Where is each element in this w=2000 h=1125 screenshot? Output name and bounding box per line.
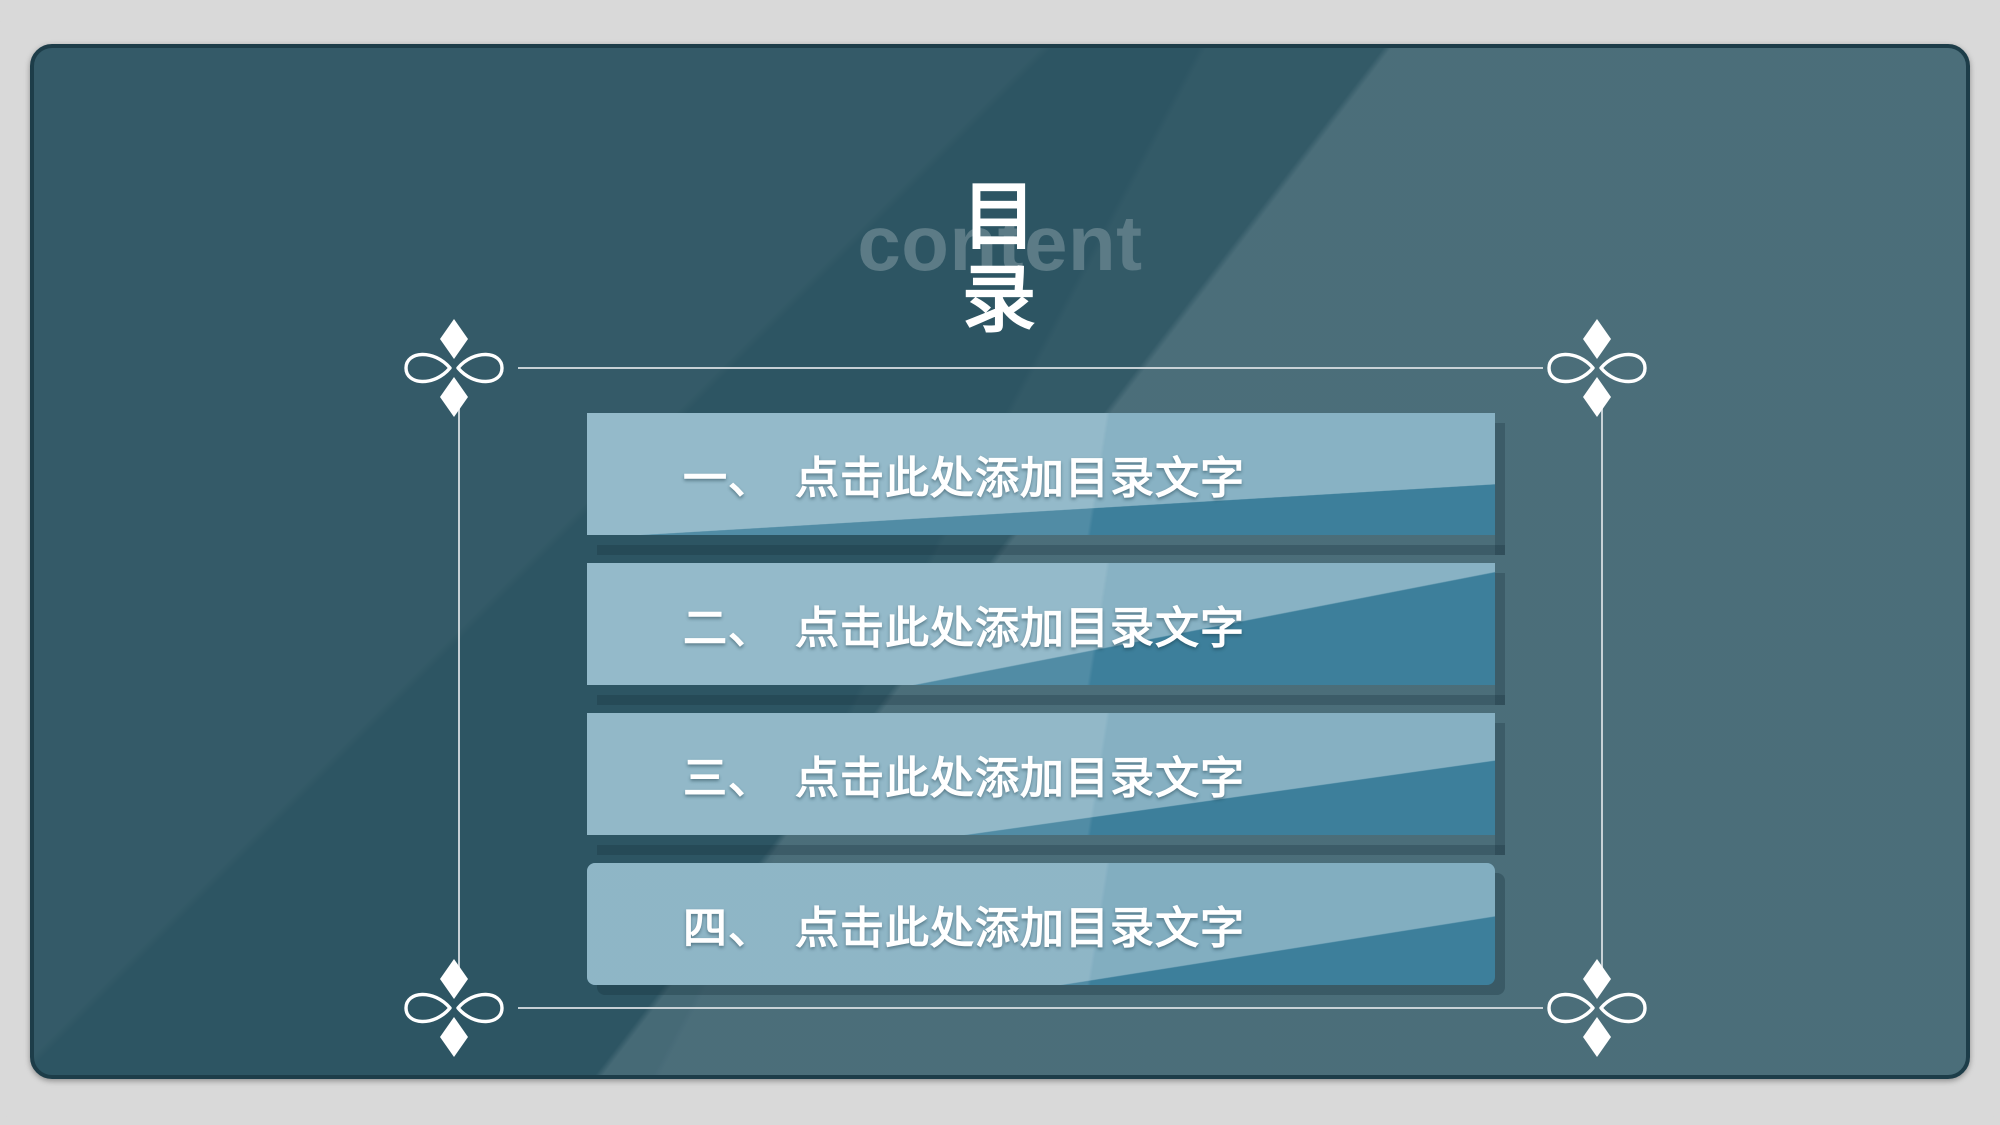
- list-item-label: 点击此处添加目录文字: [795, 592, 1245, 656]
- list-item-label: 点击此处添加目录文字: [795, 742, 1245, 806]
- presentation-slide[interactable]: content 目 录: [30, 44, 1970, 1079]
- rule-top: [518, 367, 1543, 369]
- page-title: content 目 录: [34, 176, 1966, 396]
- list-item-number: 三、: [683, 742, 773, 806]
- ornament-bottom-left: [400, 949, 518, 1067]
- list-item-text: 二、 点击此处添加目录文字: [587, 563, 1495, 685]
- list-item-label: 点击此处添加目录文字: [795, 892, 1245, 956]
- page-title-ghost-label: content: [34, 204, 1966, 282]
- rule-right: [1601, 404, 1603, 972]
- list-item-number: 二、: [683, 592, 773, 656]
- page-title-cn-line-1: 目: [34, 176, 1966, 259]
- bar-shadow-right-3: [1495, 723, 1505, 855]
- list-item[interactable]: 四、 点击此处添加目录文字: [587, 863, 1495, 985]
- rule-left: [458, 404, 460, 972]
- list-item-text: 一、 点击此处添加目录文字: [587, 413, 1495, 535]
- list-item-text: 四、 点击此处添加目录文字: [587, 863, 1495, 985]
- list-item[interactable]: 三、 点击此处添加目录文字: [587, 713, 1495, 835]
- list-item[interactable]: 一、 点击此处添加目录文字: [587, 413, 1495, 535]
- list-item-label: 点击此处添加目录文字: [795, 442, 1245, 506]
- list-item-number: 四、: [683, 892, 773, 956]
- list-item-text: 三、 点击此处添加目录文字: [587, 713, 1495, 835]
- table-of-contents-list: 一、 点击此处添加目录文字 二、 点击此处添加目录文字 三、 点击此处添加目录文…: [587, 413, 1495, 1013]
- bar-shadow-right-2: [1495, 573, 1505, 705]
- page-title-cn-line-2: 录: [34, 259, 1966, 342]
- list-item-number: 一、: [683, 442, 773, 506]
- ornament-bottom-right: [1543, 949, 1661, 1067]
- ornament-top-right: [1543, 309, 1661, 427]
- list-item[interactable]: 二、 点击此处添加目录文字: [587, 563, 1495, 685]
- ornament-top-left: [400, 309, 518, 427]
- page-title-cn: 目 录: [34, 176, 1966, 342]
- slide-frame: content 目 录: [0, 0, 2000, 1125]
- bar-shadow-right-1: [1495, 423, 1505, 555]
